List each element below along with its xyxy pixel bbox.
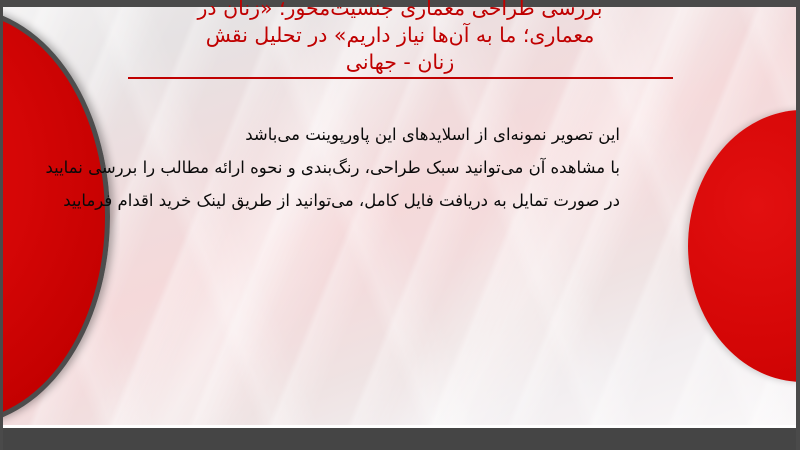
slide-title-line-3: زنان - جهانی xyxy=(120,49,680,76)
slide-title: بررسی طراحی معماری جنسیت‌محور؛ «زنان در … xyxy=(120,0,680,76)
left-frame-edge xyxy=(0,0,3,450)
slide-title-line-1: بررسی طراحی معماری جنسیت‌محور؛ «زنان در xyxy=(120,0,680,22)
slide-title-line-2: معماری؛ ما به آن‌ها نیاز داریم» در تحلیل… xyxy=(120,22,680,49)
presentation-slide: بررسی طراحی معماری جنسیت‌محور؛ «زنان در … xyxy=(0,0,800,450)
slide-body-line-1: این تصویر نمونه‌ای از اسلایدهای این پاور… xyxy=(100,118,620,151)
title-divider-rule xyxy=(128,77,673,79)
right-red-circle-decoration xyxy=(688,110,800,382)
slide-body-line-2: با مشاهده آن می‌توانید سبک طراحی، رنگ‌بن… xyxy=(100,151,620,184)
slide-body-line-3: در صورت تمایل به دریافت فایل کامل، می‌تو… xyxy=(100,184,620,217)
right-frame-edge xyxy=(796,0,800,450)
left-red-lens-decoration xyxy=(0,7,120,428)
slide-body-text: این تصویر نمونه‌ای از اسلایدهای این پاور… xyxy=(100,118,620,217)
bottom-frame-bar xyxy=(0,428,800,450)
